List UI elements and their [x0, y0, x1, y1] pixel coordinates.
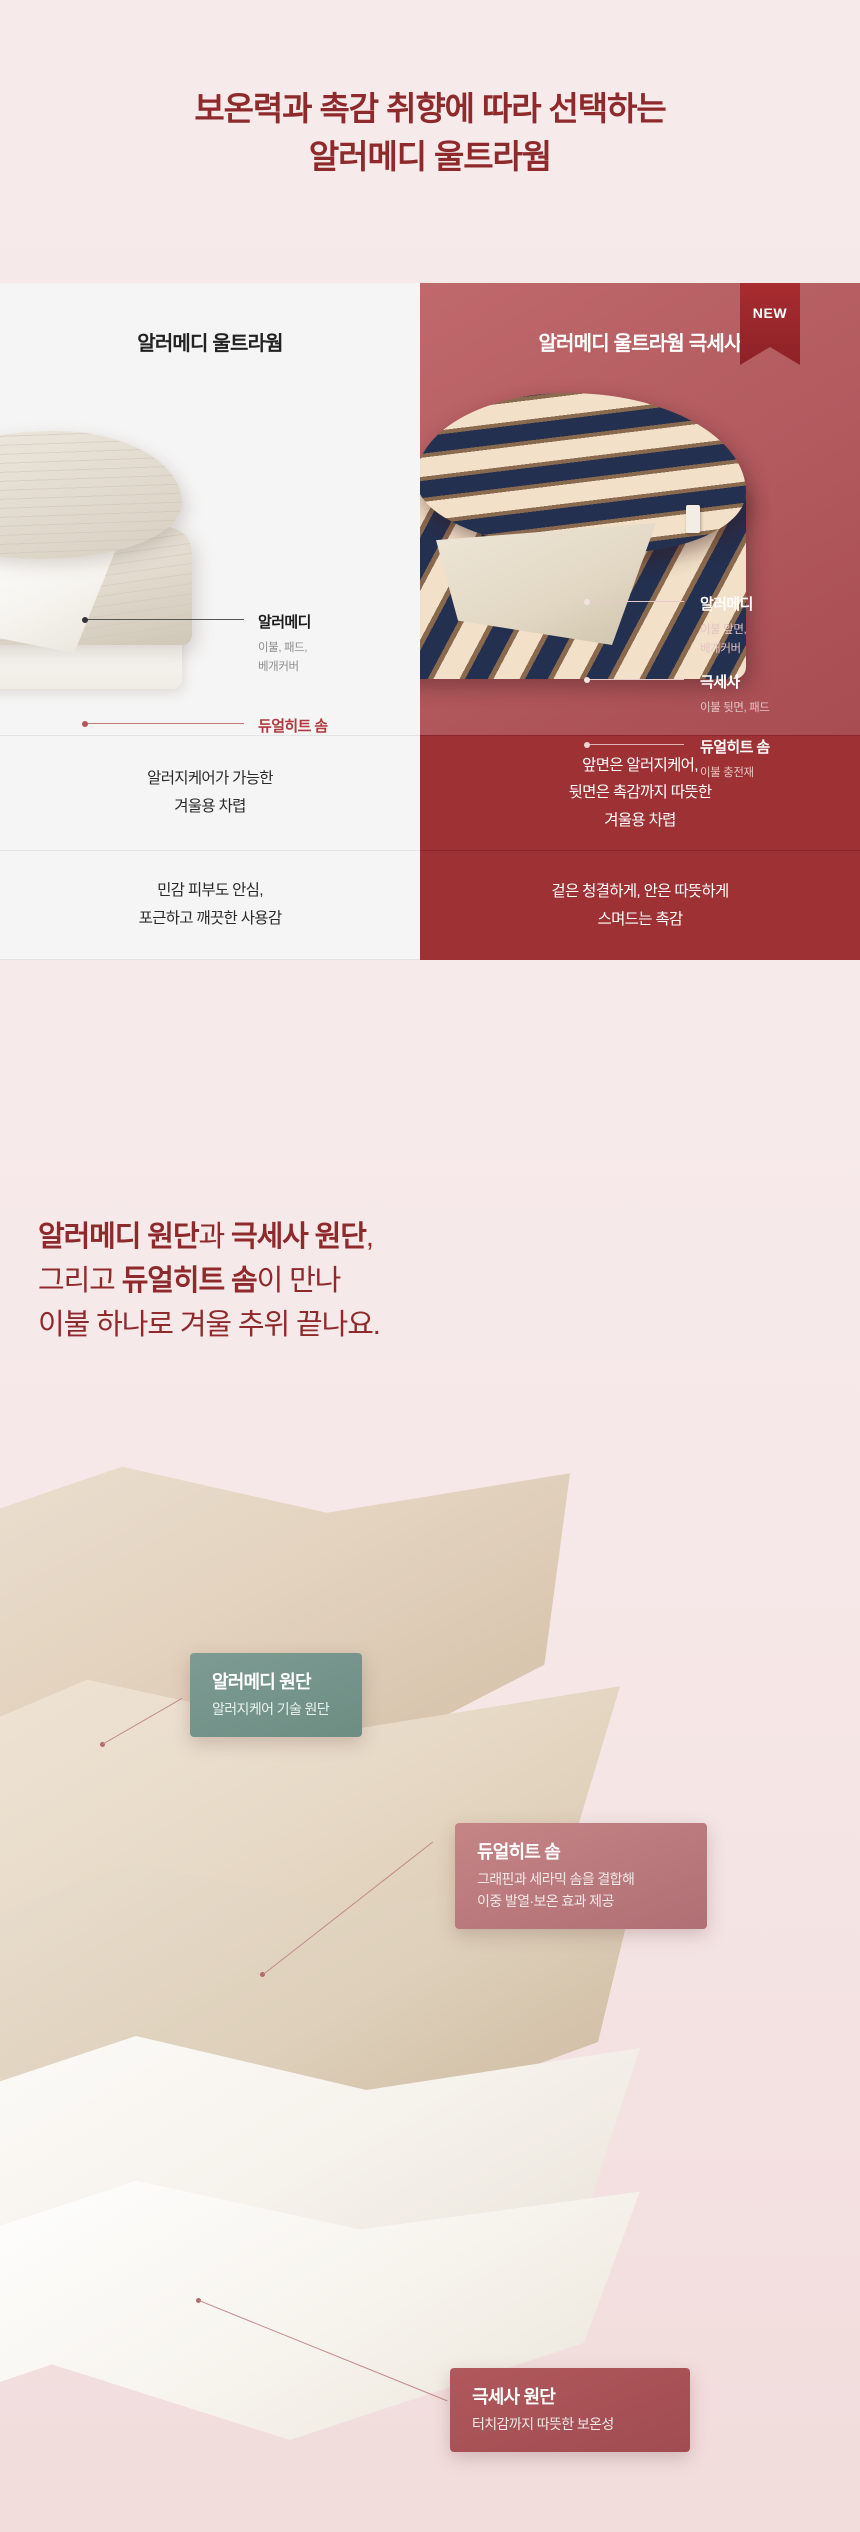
right-annotation-microfiber: 극세사 이불 뒷면, 패드 [700, 671, 769, 718]
hero-line-2: 알러메디 울트라웜 [194, 133, 665, 181]
left-product-image [0, 431, 212, 691]
card-3-desc-line-1: 터치감까지 따뜻한 보온성 [472, 2413, 664, 2435]
new-badge-label: NEW [753, 305, 787, 321]
right-leader-line-1 [588, 601, 684, 602]
heading-bold-microfiber: 극세사 원단 [231, 1221, 366, 1253]
row-1-right-line-2: 뒷면은 촉감까지 따뜻한 [569, 784, 712, 801]
heading-tail: , [366, 1221, 373, 1253]
right-annotation-1-sub: 이불 앞면, 베개커버 [700, 621, 753, 659]
left-annotation-1-sub-line-2: 베개커버 [258, 661, 299, 673]
card-1-title: 알러메디 원단 [212, 1668, 336, 1694]
fabric-layers-image [0, 1430, 860, 2520]
layers-heading-line-3: 이불 하나로 겨울 추위 끝나요. [38, 1303, 738, 1347]
heading-line2-tail: 이 만나 [257, 1265, 341, 1297]
card-2-desc-line-2: 이중 발열·보온 효과 제공 [477, 1890, 681, 1912]
layers-heading-line-2: 그리고 듀얼히트 솜이 만나 [38, 1259, 738, 1303]
heading-mid: 과 [198, 1221, 231, 1253]
row-2-left-line-2: 포근하고 깨끗한 사용감 [139, 910, 282, 927]
card-3-title: 극세사 원단 [472, 2383, 664, 2409]
right-annotation-allermedi: 알러메디 이불 앞면, 베개커버 [700, 593, 753, 659]
card-2-title: 듀얼히트 솜 [477, 1838, 681, 1864]
comparison-row-2: 민감 피부도 안심, 포근하고 깨끗한 사용감 겉은 청결하게, 안은 따뜻하게… [0, 850, 860, 960]
right-annotation-1-sub-line-2: 베개커버 [700, 643, 741, 655]
row-1-left-line-1: 알러지케어가 가능한 [147, 770, 273, 787]
row-2-right-line-2: 스며드는 촉감 [598, 911, 683, 928]
layers-section: 알러메디 원단과 극세사 원단, 그리고 듀얼히트 솜이 만나 이불 하나로 겨… [0, 960, 860, 2532]
row-1-right-line-1: 앞면은 알러지케어, [582, 757, 698, 774]
right-annotation-dualheat: 듀얼히트 솜 이불 충전재 [700, 736, 770, 783]
row-2-left-line-1: 민감 피부도 안심, [157, 882, 263, 899]
right-annotation-3-title: 듀얼히트 솜 [700, 736, 770, 757]
left-annotation-1-title: 알러메디 [258, 611, 311, 632]
left-leader-line-1 [86, 619, 244, 620]
card-3-desc: 터치감까지 따뜻한 보온성 [472, 2413, 664, 2435]
hero-line-1: 보온력과 촉감 취향에 따라 선택하는 [194, 85, 665, 133]
left-leader-line-2 [86, 723, 244, 724]
card-1-desc-line-1: 알러지케어 기술 원단 [212, 1698, 336, 1720]
row-2-left-cell: 민감 피부도 안심, 포근하고 깨끗한 사용감 [0, 850, 420, 960]
left-annotation-dualheat: 듀얼히트 솜 이불 충전재 [258, 715, 328, 735]
product-detail-page: 보온력과 촉감 취향에 따라 선택하는 알러메디 울트라웜 알러메디 울트라웜 … [0, 0, 860, 2532]
callout-card-microfiber-fabric[interactable]: 극세사 원단 터치감까지 따뜻한 보온성 [450, 2368, 690, 2452]
row-1-right-line-3: 겨울용 차렵 [604, 812, 675, 829]
right-annotation-1-sub-line-1: 이불 앞면, [700, 624, 746, 636]
row-2-right-cell: 겉은 청결하게, 안은 따뜻하게 스며드는 촉감 [420, 850, 860, 960]
card-1-desc: 알러지케어 기술 원단 [212, 1698, 336, 1720]
right-annotation-2-title: 극세사 [700, 671, 769, 692]
callout-card-dualheat[interactable]: 듀얼히트 솜 그래핀과 세라믹 솜을 결합해 이중 발열·보온 효과 제공 [455, 1823, 707, 1929]
left-annotation-allermedi: 알러메디 이불, 패드, 베개커버 [258, 611, 311, 677]
row-1-right-cell: 앞면은 알러지케어, 뒷면은 촉감까지 따뜻한 겨울용 차렵 [420, 735, 860, 850]
row-1-left-cell: 알러지케어가 가능한 겨울용 차렵 [0, 735, 420, 850]
left-annotation-1-sub-line-1: 이불, 패드, [258, 642, 307, 654]
callout-card-allermedi-fabric[interactable]: 알러메디 원단 알러지케어 기술 원단 [190, 1653, 362, 1737]
left-column-title: 알러메디 울트라웜 [0, 327, 420, 356]
heading-bold-dualheat: 듀얼히트 솜 [122, 1265, 257, 1297]
left-annotation-1-sub: 이불, 패드, 베개커버 [258, 639, 311, 677]
row-1-left-line-2: 겨울용 차렵 [174, 798, 245, 815]
left-annotation-2-title: 듀얼히트 솜 [258, 715, 328, 735]
product-tag [686, 505, 700, 533]
card-2-desc-line-1: 그래핀과 세라믹 솜을 결합해 [477, 1868, 681, 1890]
heading-bold-allermedi: 알러메디 원단 [38, 1221, 198, 1253]
page-title: 보온력과 촉감 취향에 따라 선택하는 알러메디 울트라웜 [194, 85, 665, 181]
right-annotation-2-sub: 이불 뒷면, 패드 [700, 699, 769, 718]
comparison-column-right: NEW 알러메디 울트라웜 극세사 [420, 283, 860, 735]
layers-heading-line-1: 알러메디 원단과 극세사 원단, [38, 1215, 738, 1259]
comparison-section: 알러메디 울트라웜 알러메디 이불, 패드, 베개커버 듀얼히트 솜 이불 충전… [0, 283, 860, 735]
right-annotation-3-sub: 이불 충전재 [700, 764, 770, 783]
heading-line2-pre: 그리고 [38, 1265, 122, 1297]
row-2-right-line-1: 겉은 청결하게, 안은 따뜻하게 [551, 883, 728, 900]
layers-heading: 알러메디 원단과 극세사 원단, 그리고 듀얼히트 솜이 만나 이불 하나로 겨… [38, 1215, 738, 1347]
right-annotation-1-title: 알러메디 [700, 593, 753, 614]
comparison-column-left: 알러메디 울트라웜 알러메디 이불, 패드, 베개커버 듀얼히트 솜 이불 충전… [0, 283, 420, 735]
card-2-desc: 그래핀과 세라믹 솜을 결합해 이중 발열·보온 효과 제공 [477, 1868, 681, 1912]
right-leader-line-3 [588, 744, 684, 745]
hero-section: 보온력과 촉감 취향에 따라 선택하는 알러메디 울트라웜 [0, 0, 860, 283]
right-leader-line-2 [588, 679, 684, 680]
